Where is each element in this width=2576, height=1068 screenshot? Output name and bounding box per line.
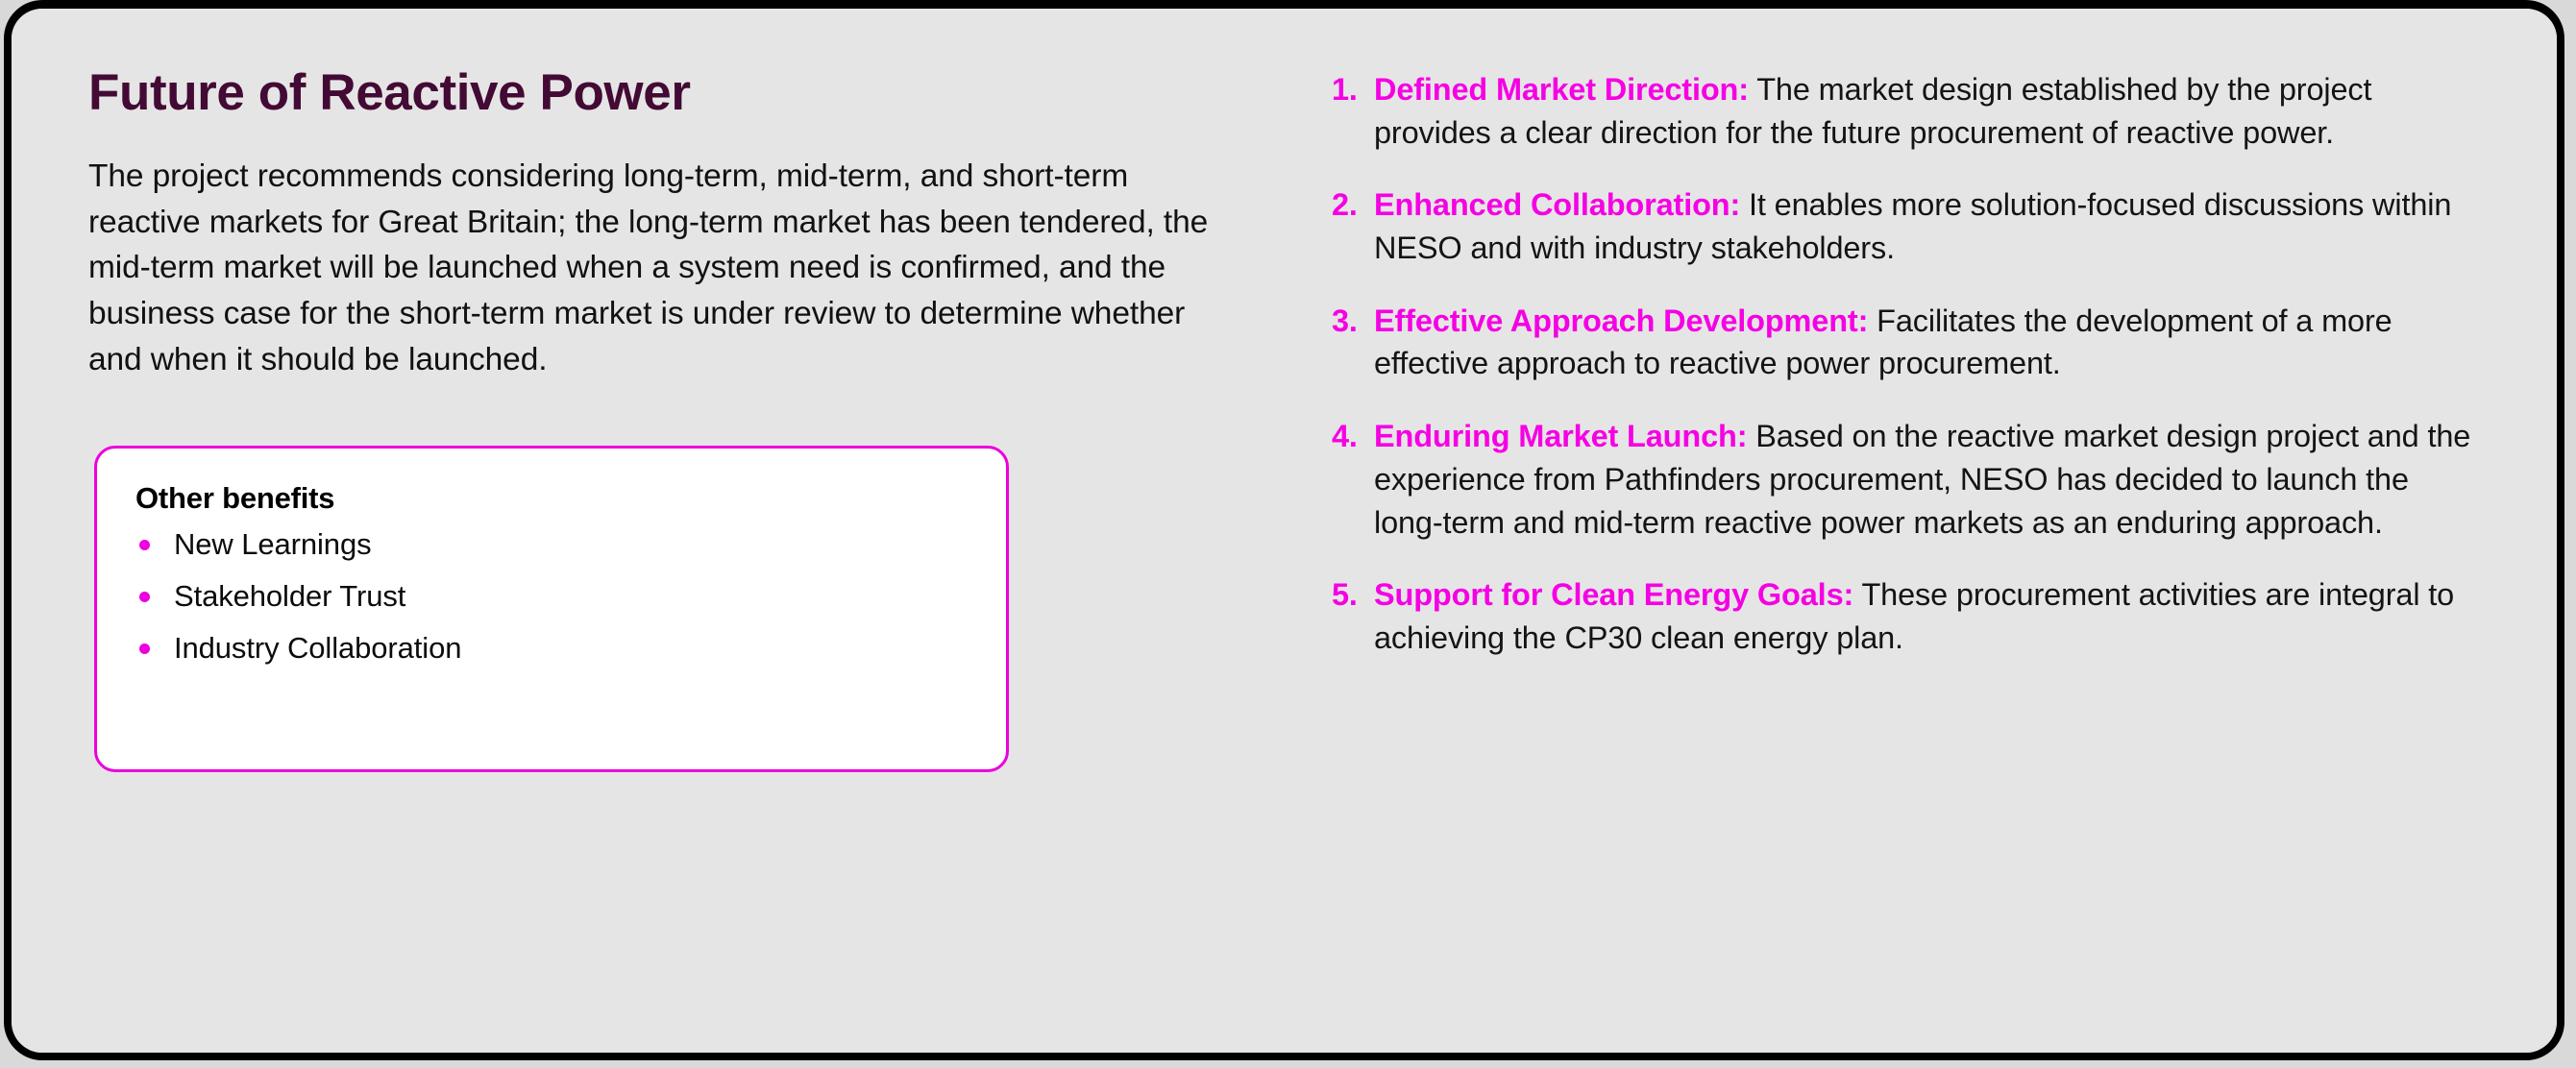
list-item-number: 2.	[1332, 183, 1358, 227]
list-item: 2.Enhanced Collaboration: It enables mor…	[1332, 183, 2485, 269]
other-benefits-list: New Learnings Stakeholder Trust Industry…	[135, 529, 968, 663]
list-item: New Learnings	[135, 529, 968, 559]
key-points-list: 1.Defined Market Direction: The market d…	[1332, 68, 2485, 660]
list-item-label: Stakeholder Trust	[174, 579, 405, 613]
list-item-label: Enduring Market Launch:	[1374, 419, 1747, 453]
list-item-number: 4.	[1332, 415, 1358, 458]
bullet-dot-icon	[139, 540, 150, 550]
left-column: Future of Reactive Power The project rec…	[88, 64, 1251, 382]
list-item: 1.Defined Market Direction: The market d…	[1332, 68, 2485, 154]
list-item-number: 5.	[1332, 573, 1358, 617]
intro-paragraph: The project recommends considering long-…	[88, 154, 1241, 382]
list-item-number: 3.	[1332, 300, 1358, 343]
list-item-label: Industry Collaboration	[174, 631, 461, 665]
page-title: Future of Reactive Power	[88, 64, 1251, 121]
bullet-dot-icon	[139, 592, 150, 602]
list-item-label: New Learnings	[174, 527, 371, 561]
list-item: Stakeholder Trust	[135, 581, 968, 611]
list-item-label: Effective Approach Development:	[1374, 303, 1868, 338]
list-item: 4.Enduring Market Launch: Based on the r…	[1332, 415, 2485, 544]
list-item: Industry Collaboration	[135, 633, 968, 663]
slide-frame: Future of Reactive Power The project rec…	[4, 0, 2564, 1060]
list-item: 3.Effective Approach Development: Facili…	[1332, 300, 2485, 385]
list-item-label: Support for Clean Energy Goals:	[1374, 577, 1853, 612]
list-item-label: Defined Market Direction:	[1374, 72, 1749, 107]
list-item: 5.Support for Clean Energy Goals: These …	[1332, 573, 2485, 659]
other-benefits-card: Other benefits New Learnings Stakeholder…	[94, 446, 1009, 772]
slide-content-area: Future of Reactive Power The project rec…	[12, 9, 2557, 1053]
other-benefits-heading: Other benefits	[135, 481, 968, 516]
bullet-dot-icon	[139, 643, 150, 654]
list-item-label: Enhanced Collaboration:	[1374, 187, 1740, 222]
list-item-number: 1.	[1332, 68, 1358, 111]
right-column: 1.Defined Market Direction: The market d…	[1332, 68, 2485, 660]
